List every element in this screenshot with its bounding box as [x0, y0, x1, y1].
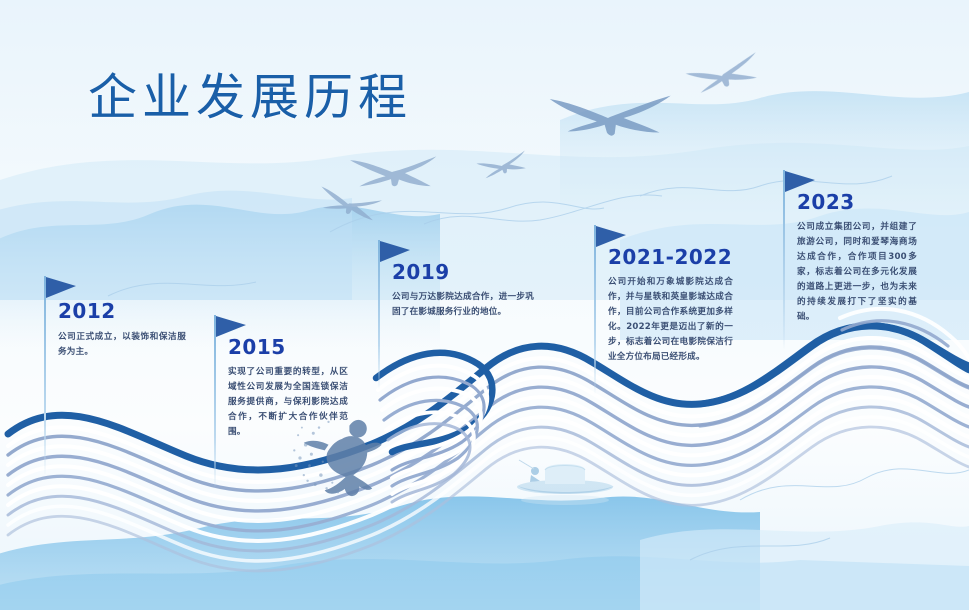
milestone-description: 公司开始和万象城影院达成合作，并与星轶和英皇影城达成合作，目前公司合作系统更加多…	[608, 275, 733, 365]
milestone-description: 公司与万达影院达成合作，进一步巩固了在影城服务行业的地位。	[392, 290, 534, 320]
timeline-poster: 企业发展历程 2012 公司正式成立，以装饰和保洁服务为主。 2015 实现了公…	[0, 0, 969, 610]
milestone-year: 2019	[392, 260, 450, 284]
milestone-description: 实现了公司重要的转型，从区域性公司发展为全国连锁保洁服务提供商，与保利影院达成合…	[228, 365, 348, 440]
milestone-year: 2015	[228, 335, 286, 359]
milestone-year: 2012	[58, 299, 116, 323]
page-title: 企业发展历程	[88, 58, 412, 129]
milestone-description: 公司正式成立，以装饰和保洁服务为主。	[58, 330, 186, 360]
milestone-description: 公司成立集团公司，并组建了旅游公司，同时和爱琴海商场达成合作，合作项目300多家…	[797, 220, 917, 325]
milestone-year: 2023	[797, 190, 855, 214]
milestone-year: 2021-2022	[608, 245, 732, 269]
